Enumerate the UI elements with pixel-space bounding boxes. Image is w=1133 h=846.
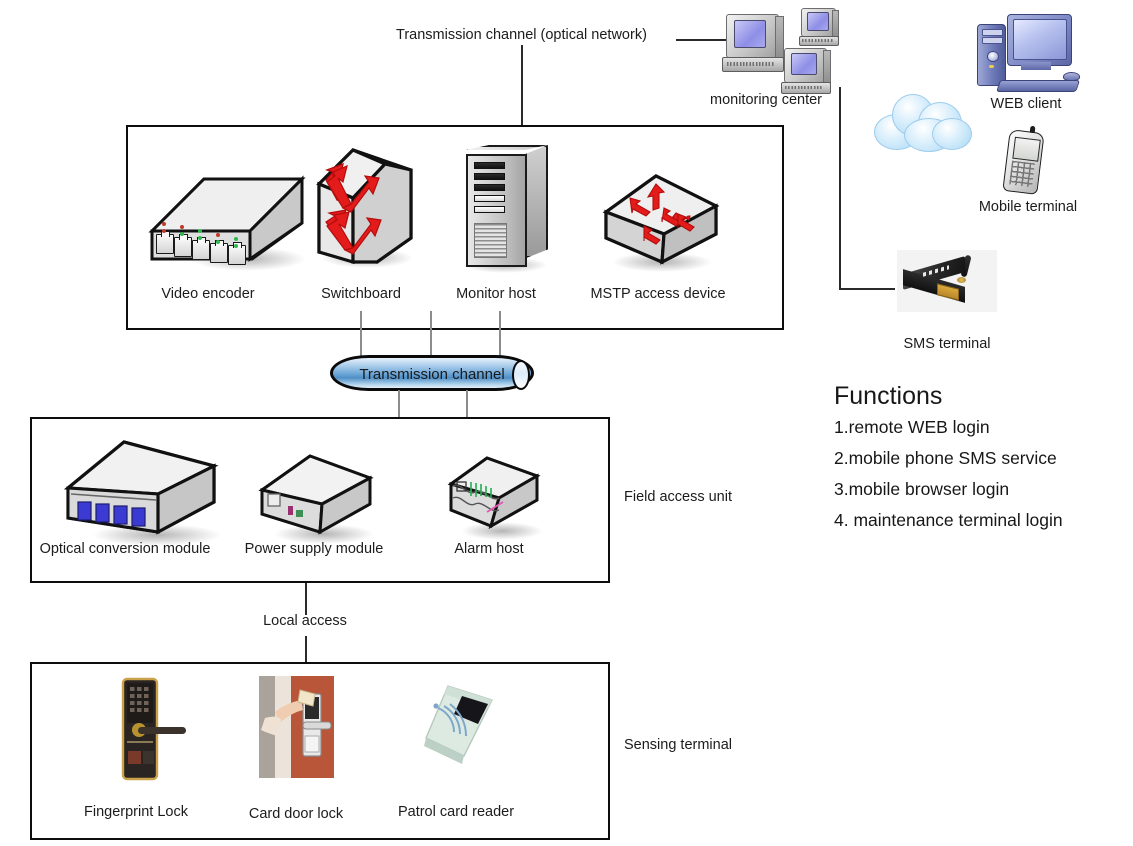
device-label-monitor-host: Monitor host <box>456 286 536 302</box>
local-access-label: Local access <box>263 613 347 629</box>
crt-body <box>784 48 827 83</box>
functions-item-3: 3.mobile browser login <box>834 479 1009 500</box>
status-led <box>162 229 166 233</box>
status-led <box>198 229 202 233</box>
crt-screen <box>734 20 766 48</box>
drive-bay <box>474 173 506 180</box>
card-door-lock-shape <box>259 676 334 778</box>
desktop-computer-icon <box>975 14 1080 94</box>
mouse <box>1063 72 1080 81</box>
transmission-channel-pipe: Transmission channel <box>330 355 534 391</box>
status-led <box>234 237 238 241</box>
status-led <box>180 232 184 236</box>
status-led <box>216 240 220 244</box>
mstp-shape <box>600 168 722 270</box>
monitor <box>1007 14 1072 66</box>
functions-title: Functions <box>834 382 942 411</box>
device-label-switchboard: Switchboard <box>321 286 401 302</box>
crt-side <box>832 10 839 39</box>
title-leader-line <box>676 39 728 41</box>
monitoring-center-monitor-2 <box>799 8 839 46</box>
rj45-port <box>210 243 228 263</box>
device-label-mstp: MSTP access device <box>590 286 725 302</box>
crt-body <box>801 8 836 37</box>
crt-screen <box>807 12 829 31</box>
alarm-host-shape <box>447 452 543 540</box>
crt-screen <box>791 53 818 76</box>
drive-bay <box>474 206 506 213</box>
device-label-alarm-host: Alarm host <box>454 541 523 557</box>
functions-item-1: 1.remote WEB login <box>834 417 990 438</box>
mobile-terminal-label: Mobile terminal <box>979 199 1077 215</box>
monitoring-center-monitor-3 <box>781 48 831 94</box>
crt-body <box>726 14 779 58</box>
card-door-lock-icon <box>259 676 334 778</box>
video-encoder-icon <box>146 163 308 273</box>
device-label-patrol-card-reader: Patrol card reader <box>398 804 514 820</box>
switchboard-shape <box>313 142 417 272</box>
power-supply-module-icon <box>258 450 376 542</box>
crt-base <box>799 36 839 46</box>
phone-keypad <box>1010 161 1035 187</box>
network-to-pipe-line-3 <box>499 311 501 359</box>
device-label-psm: Power supply module <box>245 541 384 557</box>
web-client-label: WEB client <box>991 96 1062 112</box>
device-label-ocm: Optical conversion module <box>40 541 211 557</box>
switchboard-icon <box>313 142 417 272</box>
sms-link-vertical <box>839 87 841 289</box>
tower-vents <box>474 223 508 258</box>
monitoring-center-label: monitoring center <box>710 92 822 108</box>
server-tower-icon <box>466 145 548 267</box>
local-access-line-lower <box>305 636 307 663</box>
rj45-port <box>156 234 174 254</box>
diagram-canvas: Transmission channel (optical network) m… <box>0 0 1133 846</box>
patrol-card-reader-icon <box>418 682 496 768</box>
status-led <box>180 225 184 229</box>
network-to-pipe-line-1 <box>360 311 362 359</box>
fingerprint-lock-shape <box>109 679 187 779</box>
psm-shape <box>258 450 376 542</box>
local-access-line-upper <box>305 583 307 615</box>
pipe-to-field-line-2 <box>466 390 468 418</box>
keyboard <box>996 80 1080 92</box>
monitor-stand <box>1021 62 1050 70</box>
rj45-port <box>192 240 210 260</box>
status-led <box>234 244 238 248</box>
rj45-port <box>174 237 192 257</box>
tower-face <box>466 154 527 267</box>
transmission-channel-label: Transmission channel <box>333 366 531 383</box>
rj45-port <box>228 245 246 265</box>
status-led <box>162 222 166 226</box>
field-access-unit-label: Field access unit <box>624 489 732 505</box>
pc-tower <box>977 24 1006 87</box>
sensing-terminal-label: Sensing terminal <box>624 737 732 753</box>
title-drop-line <box>521 45 523 125</box>
fingerprint-lock-icon <box>109 679 187 779</box>
device-label-fingerprint-lock: Fingerprint Lock <box>84 804 188 820</box>
pipe-end-cap <box>512 360 530 390</box>
pipe-to-field-line-1 <box>398 390 400 418</box>
monitor-screen <box>1013 19 1067 60</box>
drive-bay <box>474 184 506 191</box>
sms-link-horizontal <box>839 288 895 290</box>
status-led <box>216 233 220 237</box>
functions-item-2: 2.mobile phone SMS service <box>834 448 1057 469</box>
mobile-phone-icon <box>1000 126 1052 194</box>
drive-bay <box>474 162 506 169</box>
device-label-video-encoder: Video encoder <box>161 286 254 302</box>
phone-shell <box>1003 130 1046 196</box>
cloud-puff <box>932 118 972 150</box>
mstp-access-device-icon <box>600 168 722 270</box>
pc-knob <box>987 51 999 62</box>
patrol-card-reader-shape <box>418 682 496 768</box>
status-led <box>198 236 202 240</box>
crt-side <box>823 50 831 84</box>
drive-bay <box>474 195 506 202</box>
phone-screen <box>1012 137 1040 162</box>
alarm-host-icon <box>447 452 543 540</box>
optical-conversion-module-icon <box>62 432 222 544</box>
crt-base <box>722 57 784 72</box>
pc-bay <box>982 37 1003 44</box>
network-to-pipe-line-2 <box>430 311 432 359</box>
ocm-shape <box>62 432 222 544</box>
pc-led <box>989 65 994 68</box>
cloud-icon <box>874 90 972 152</box>
monitoring-center-monitor-1 <box>722 14 784 72</box>
device-label-card-door-lock: Card door lock <box>249 806 343 822</box>
sms-terminal-label: SMS terminal <box>903 336 990 352</box>
pc-bay <box>982 29 1003 36</box>
functions-item-4: 4. maintenance terminal login <box>834 510 1063 531</box>
sms-modem-icon <box>897 250 997 312</box>
tower-side <box>525 145 548 258</box>
top-title-label: Transmission channel (optical network) <box>396 27 647 43</box>
